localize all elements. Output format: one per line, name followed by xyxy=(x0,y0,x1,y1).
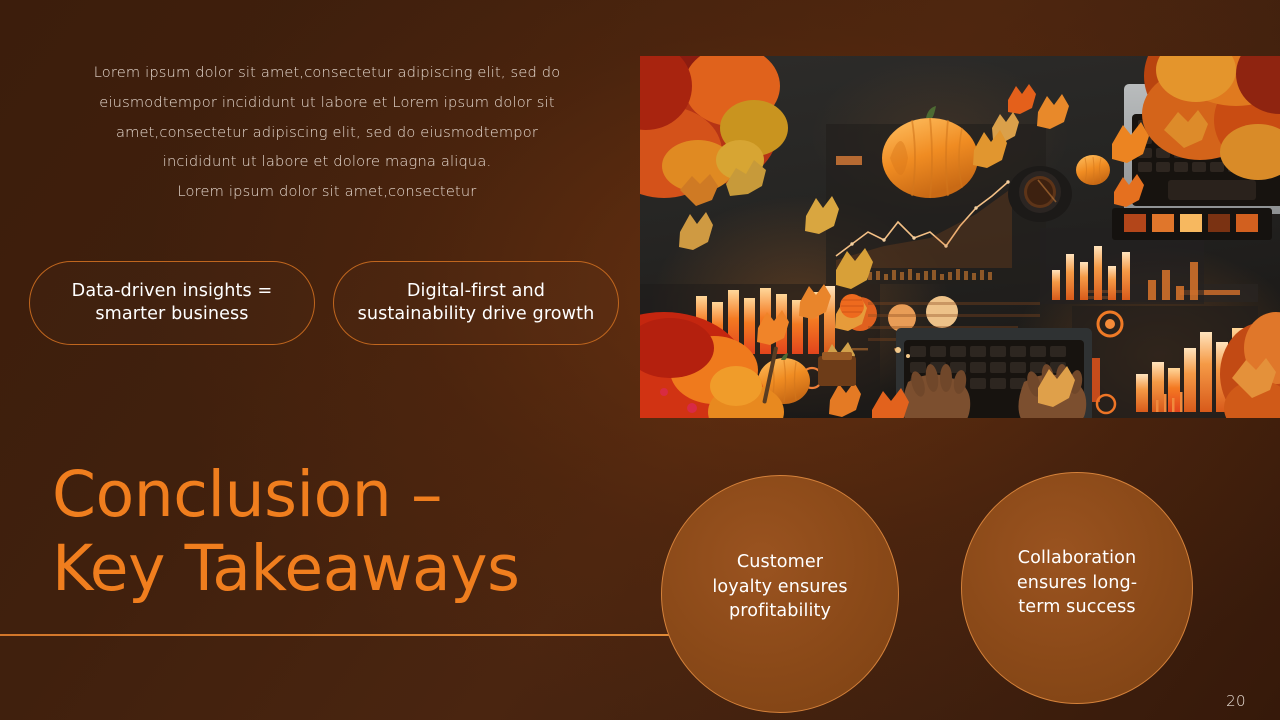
page-title: Conclusion – Key Takeaways xyxy=(52,458,612,607)
photo-illustration xyxy=(640,56,1280,418)
takeaway-circle-label: Customer loyalty ensures profitability xyxy=(712,550,847,625)
presentation-slide: Lorem ipsum dolor sit amet,consectetur a… xyxy=(0,0,1280,720)
autumn-workspace-photo xyxy=(640,56,1280,418)
takeaway-pill-digital-first[interactable]: Digital-first and sustainability drive g… xyxy=(333,261,619,345)
takeaway-circle-collaboration[interactable]: Collaboration ensures long- term success xyxy=(961,472,1193,704)
page-number: 20 xyxy=(1226,692,1246,710)
tablet-screen xyxy=(1112,208,1272,240)
horizontal-divider xyxy=(0,634,676,636)
takeaway-circle-customer-loyalty[interactable]: Customer loyalty ensures profitability xyxy=(661,475,899,713)
body-paragraph: Lorem ipsum dolor sit amet,consectetur a… xyxy=(62,58,592,207)
takeaway-pill-label: Digital-first and sustainability drive g… xyxy=(348,280,605,327)
pumpkin-mini xyxy=(1076,155,1110,185)
takeaway-circle-label: Collaboration ensures long- term success xyxy=(1017,546,1137,621)
takeaway-pill-label: Data-driven insights = smarter business xyxy=(62,280,283,327)
takeaway-pill-data-driven[interactable]: Data-driven insights = smarter business xyxy=(29,261,315,345)
coffee-cup xyxy=(1008,166,1072,222)
